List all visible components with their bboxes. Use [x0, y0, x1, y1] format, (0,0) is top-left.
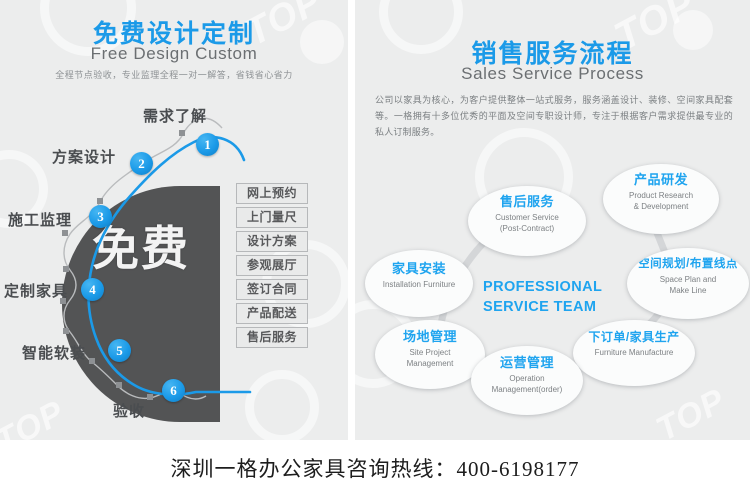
bubble-customer-service[interactable]: 售后服务 Customer Service (Post-Contract)	[468, 186, 586, 256]
bubble-title-en: Operation Management(order)	[471, 373, 583, 395]
bubble-title-en: Furniture Manufacture	[573, 347, 695, 358]
bubble-title-cn: 场地管理	[375, 329, 485, 345]
step-label-5: 智能软装	[22, 342, 86, 363]
bubble-title-cn: 空间规划/布置线点	[627, 257, 749, 272]
bubble-product-rd[interactable]: 产品研发 Product Research & Development	[603, 164, 719, 234]
service-box[interactable]: 设计方案	[236, 231, 308, 252]
bubble-operation-management[interactable]: 运营管理 Operation Management(order)	[471, 346, 583, 415]
footer: 深圳一格办公家具咨询热线：400-6198177	[0, 440, 750, 500]
bubble-installation[interactable]: 家具安装 Installation Furniture	[365, 250, 473, 317]
step-label-6: 验收	[113, 400, 145, 421]
service-box[interactable]: 上门量尺	[236, 207, 308, 228]
service-box[interactable]: 网上预约	[236, 183, 308, 204]
step-label-2: 方案设计	[52, 146, 116, 167]
step-badge-6[interactable]: 6	[162, 379, 185, 402]
step-badge-1[interactable]: 1	[196, 133, 219, 156]
step-badge-5[interactable]: 5	[108, 339, 131, 362]
bubble-site-project[interactable]: 场地管理 Site Project Management	[375, 320, 485, 389]
step-badge-4[interactable]: 4	[81, 278, 104, 301]
page-root: TOP TOP 免费设计定制 Free Design Custom 全程节点验收…	[0, 0, 750, 500]
bubble-title-cn: 产品研发	[603, 172, 719, 188]
bubble-title-en: Customer Service (Post-Contract)	[468, 212, 586, 234]
service-box[interactable]: 售后服务	[236, 327, 308, 348]
bubble-title-cn: 运营管理	[471, 355, 583, 371]
footer-hotline-text: 深圳一格办公家具咨询热线：400-6198177	[0, 453, 750, 483]
right-panel: TOP TOP 销售服务流程 Sales Service Process 公司以…	[355, 0, 750, 440]
bubble-title-en: Site Project Management	[375, 347, 485, 369]
bubble-title-cn: 下订单/家具生产	[573, 330, 695, 345]
step-label-3: 施工监理	[8, 209, 72, 230]
service-box[interactable]: 签订合同	[236, 279, 308, 300]
bubble-title-en: Product Research & Development	[603, 190, 719, 212]
left-title-en: Free Design Custom	[0, 44, 348, 64]
step-badge-3[interactable]: 3	[89, 205, 112, 228]
bubble-furniture-manufacture[interactable]: 下订单/家具生产 Furniture Manufacture	[573, 320, 695, 386]
step-badge-2[interactable]: 2	[130, 152, 153, 175]
step-label-1: 需求了解	[143, 105, 207, 126]
bubble-title-en: Installation Furniture	[365, 279, 473, 290]
step-label-4: 定制家具	[4, 280, 68, 301]
service-box[interactable]: 参观展厅	[236, 255, 308, 276]
service-box[interactable]: 产品配送	[236, 303, 308, 324]
service-box-list: 网上预约 上门量尺 设计方案 参观展厅 签订合同 产品配送 售后服务	[236, 183, 308, 351]
bubble-title-cn: 家具安装	[365, 261, 473, 277]
bubble-title-cn: 售后服务	[468, 194, 586, 210]
left-panel: TOP TOP 免费设计定制 Free Design Custom 全程节点验收…	[0, 0, 348, 440]
left-subtitle: 全程节点验收，专业监理全程一对一解答，省钱省心省力	[0, 68, 348, 81]
professional-service-team-heading: PROFESSIONAL SERVICE TEAM	[483, 277, 653, 317]
